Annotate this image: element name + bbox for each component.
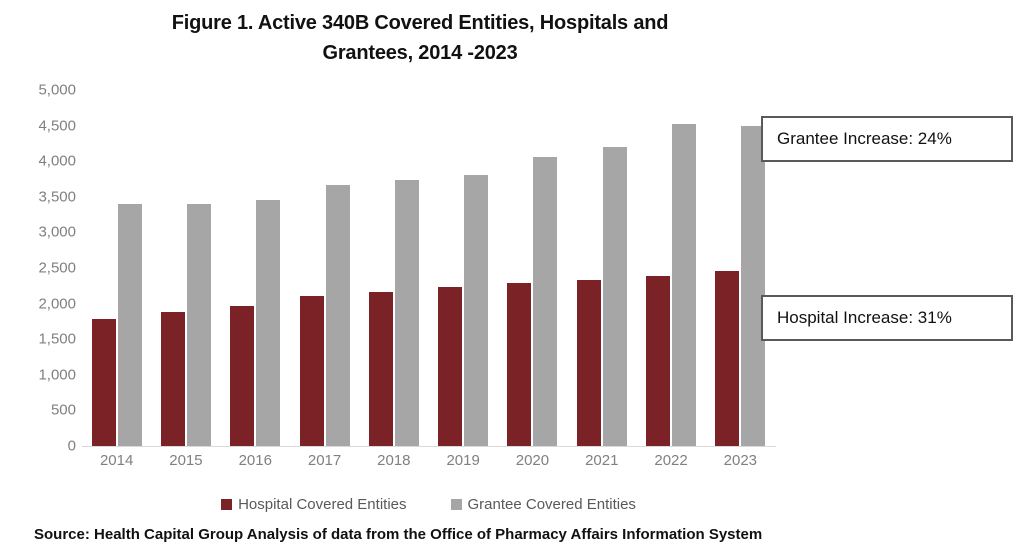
annotation-grantee-increase: Grantee Increase: 24% [761,116,1013,162]
y-axis-tick-label: 500 [0,402,76,419]
x-axis-tick-label: 2019 [446,452,479,469]
bar-grantee-2023 [741,126,765,446]
y-axis-tick-label: 4,000 [0,153,76,170]
y-axis-tick-label: 0 [0,438,76,455]
bar-grantee-2016 [256,200,280,446]
chart-title: Figure 1. Active 340B Covered Entities, … [60,8,780,68]
y-axis-tick-label: 3,500 [0,188,76,205]
x-axis-tick-label: 2014 [100,452,133,469]
plot-area [82,90,775,446]
legend-item-hospital: Hospital Covered Entities [221,496,406,513]
y-axis-tick-label: 2,500 [0,260,76,277]
bar-hospital-2022 [646,276,670,446]
legend-swatch-grantee-icon [451,499,462,510]
legend-swatch-hospital-icon [221,499,232,510]
legend-item-grantee: Grantee Covered Entities [451,496,636,513]
bar-hospital-2014 [92,319,116,446]
annotation-hospital-increase: Hospital Increase: 31% [761,295,1013,341]
x-axis-line [82,446,776,447]
chart-title-line-2: Grantees, 2014 -2023 [60,38,780,68]
bar-grantee-2014 [118,204,142,446]
annotation-grantee-increase-label: Grantee Increase: 24% [777,129,952,149]
y-axis-tick-label: 5,000 [0,82,76,99]
x-axis-labels: 2014201520162017201820192020202120222023 [82,452,775,478]
bar-hospital-2015 [161,312,185,446]
x-axis-tick-label: 2021 [585,452,618,469]
y-axis-tick-label: 1,500 [0,331,76,348]
y-axis-tick-label: 1,000 [0,366,76,383]
bar-hospital-2020 [507,283,531,446]
legend-label-hospital: Hospital Covered Entities [238,496,406,513]
chart-title-line-1: Figure 1. Active 340B Covered Entities, … [60,8,780,38]
x-axis-tick-label: 2017 [308,452,341,469]
chart-source: Source: Health Capital Group Analysis of… [34,526,1014,543]
y-axis-tick-label: 2,000 [0,295,76,312]
y-axis-tick-label: 4,500 [0,117,76,134]
x-axis-tick-label: 2016 [239,452,272,469]
bar-grantee-2017 [326,185,350,446]
bar-hospital-2016 [230,306,254,446]
bar-hospital-2021 [577,280,601,446]
bar-hospital-2019 [438,287,462,446]
x-axis-tick-label: 2023 [724,452,757,469]
bar-grantee-2015 [187,204,211,446]
chart-legend: Hospital Covered Entities Grantee Covere… [82,492,775,516]
bar-grantee-2019 [464,175,488,446]
bar-grantee-2020 [533,157,557,446]
bar-hospital-2017 [300,296,324,446]
bar-hospital-2018 [369,292,393,447]
bar-grantee-2021 [603,147,627,446]
annotation-hospital-increase-label: Hospital Increase: 31% [777,308,952,328]
y-axis-tick-label: 3,000 [0,224,76,241]
x-axis-tick-label: 2015 [169,452,202,469]
chart-figure: Figure 1. Active 340B Covered Entities, … [0,0,1024,558]
bar-hospital-2023 [715,271,739,446]
legend-label-grantee: Grantee Covered Entities [468,496,636,513]
bar-grantee-2022 [672,124,696,446]
x-axis-tick-label: 2022 [654,452,687,469]
bar-grantee-2018 [395,180,419,446]
y-axis-labels: 5,0004,5004,0003,5003,0002,5002,0001,500… [0,0,76,558]
x-axis-tick-label: 2020 [516,452,549,469]
x-axis-tick-label: 2018 [377,452,410,469]
